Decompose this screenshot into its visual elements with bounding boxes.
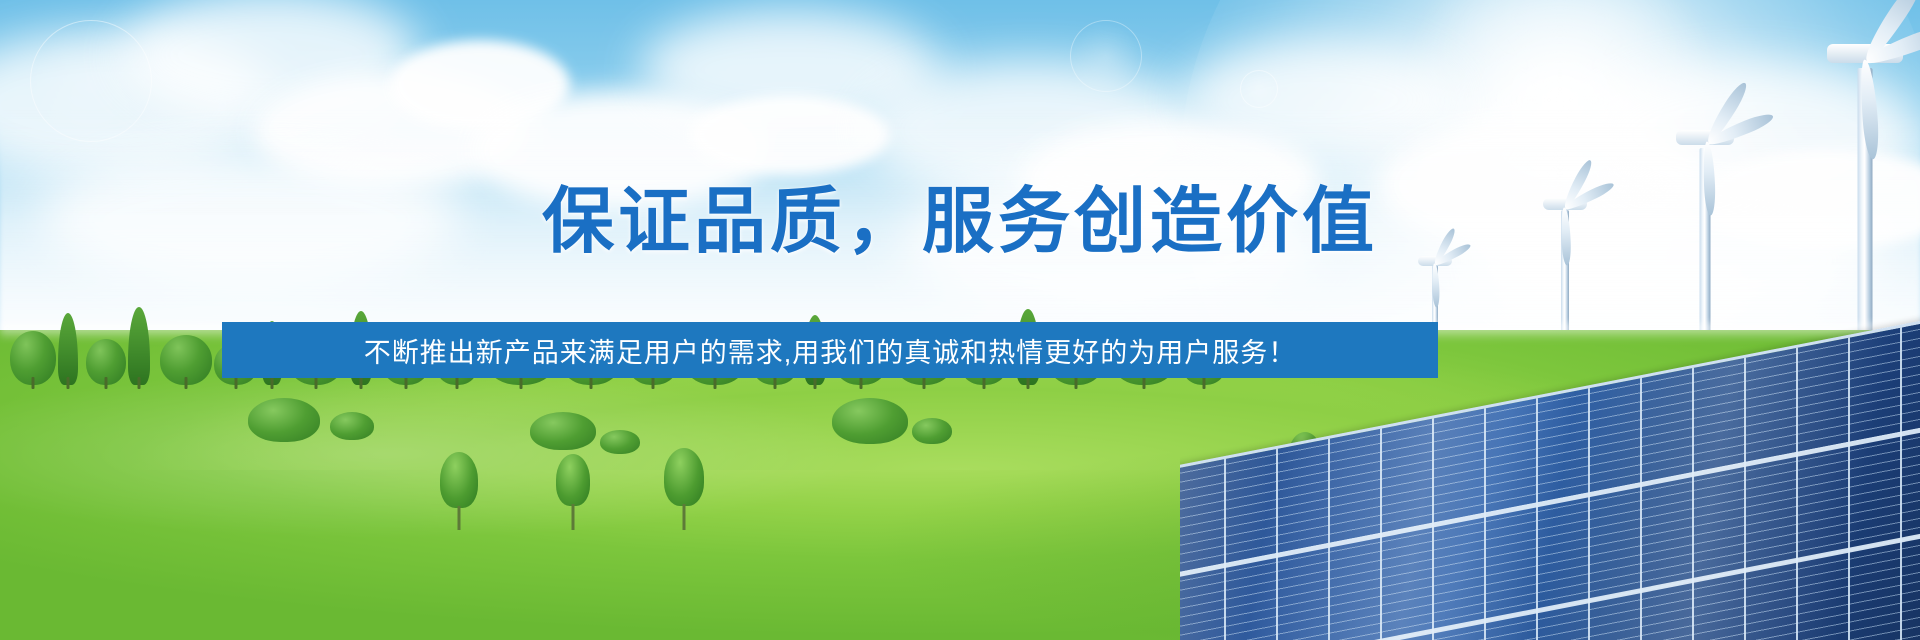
hero-banner: 保证品质，服务创造价值 不断推出新产品来满足用户的需求,用我们的真诚和热情更好的… — [0, 0, 1920, 640]
tree-icon — [160, 335, 212, 385]
bush-icon — [530, 412, 596, 450]
sapling-icon — [440, 452, 478, 530]
subtitle-text: 不断推出新产品来满足用户的需求,用我们的真诚和热情更好的为用户服务！ — [364, 331, 1297, 370]
tree-icon — [128, 307, 150, 385]
tree-icon — [58, 313, 78, 385]
sapling-icon — [556, 454, 590, 530]
subtitle-bar: 不断推出新产品来满足用户的需求,用我们的真诚和热情更好的为用户服务！ — [222, 322, 1438, 378]
bush-icon — [330, 412, 374, 440]
solar-panel-array — [1180, 230, 1920, 640]
bush-icon — [912, 418, 952, 444]
bush-icon — [600, 430, 640, 454]
sapling-icon — [664, 448, 704, 530]
bush-icon — [248, 398, 320, 442]
page-title: 保证品质，服务创造价值 — [0, 162, 1920, 267]
tree-icon — [10, 331, 56, 385]
bush-icon — [832, 398, 908, 444]
tree-icon — [86, 339, 126, 385]
